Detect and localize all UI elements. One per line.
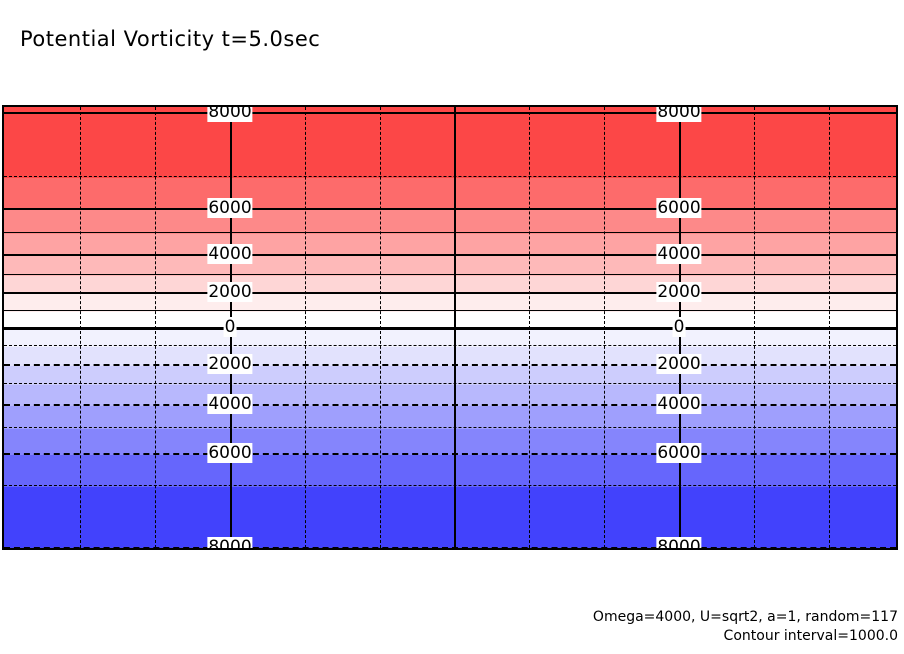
- page-title: Potential Vorticity t=5.0sec: [20, 27, 320, 51]
- contour-plot: 8000800060006000400040002000200000200020…: [2, 105, 898, 550]
- contour-label-layer: 8000800060006000400040002000200000200020…: [4, 107, 896, 548]
- contour-interval-annotation: Contour interval=1000.0: [593, 627, 898, 646]
- contour-label: 0: [224, 317, 237, 337]
- contour-label: 2000: [207, 354, 252, 374]
- contour-fill-band: [4, 549, 896, 550]
- parameter-annotation: Omega=4000, U=sqrt2, a=1, random=117: [593, 608, 898, 627]
- contour-label: 4000: [656, 394, 701, 414]
- contour-label: 6000: [656, 198, 701, 218]
- contour-label: 4000: [207, 394, 252, 414]
- contour-label: 0: [673, 317, 686, 337]
- footer-annotations: Omega=4000, U=sqrt2, a=1, random=117 Con…: [593, 608, 898, 646]
- contour-label: 8000: [656, 537, 701, 550]
- contour-label: 8000: [207, 537, 252, 550]
- contour-label: 8000: [656, 105, 701, 122]
- contour-label: 2000: [656, 354, 701, 374]
- contour-label: 2000: [207, 282, 252, 302]
- contour-label: 6000: [656, 443, 701, 463]
- contour-label: 6000: [207, 443, 252, 463]
- contour-label: 4000: [656, 244, 701, 264]
- contour-label: 8000: [207, 105, 252, 122]
- contour-label: 6000: [207, 198, 252, 218]
- contour-label: 2000: [656, 282, 701, 302]
- contour-label: 4000: [207, 244, 252, 264]
